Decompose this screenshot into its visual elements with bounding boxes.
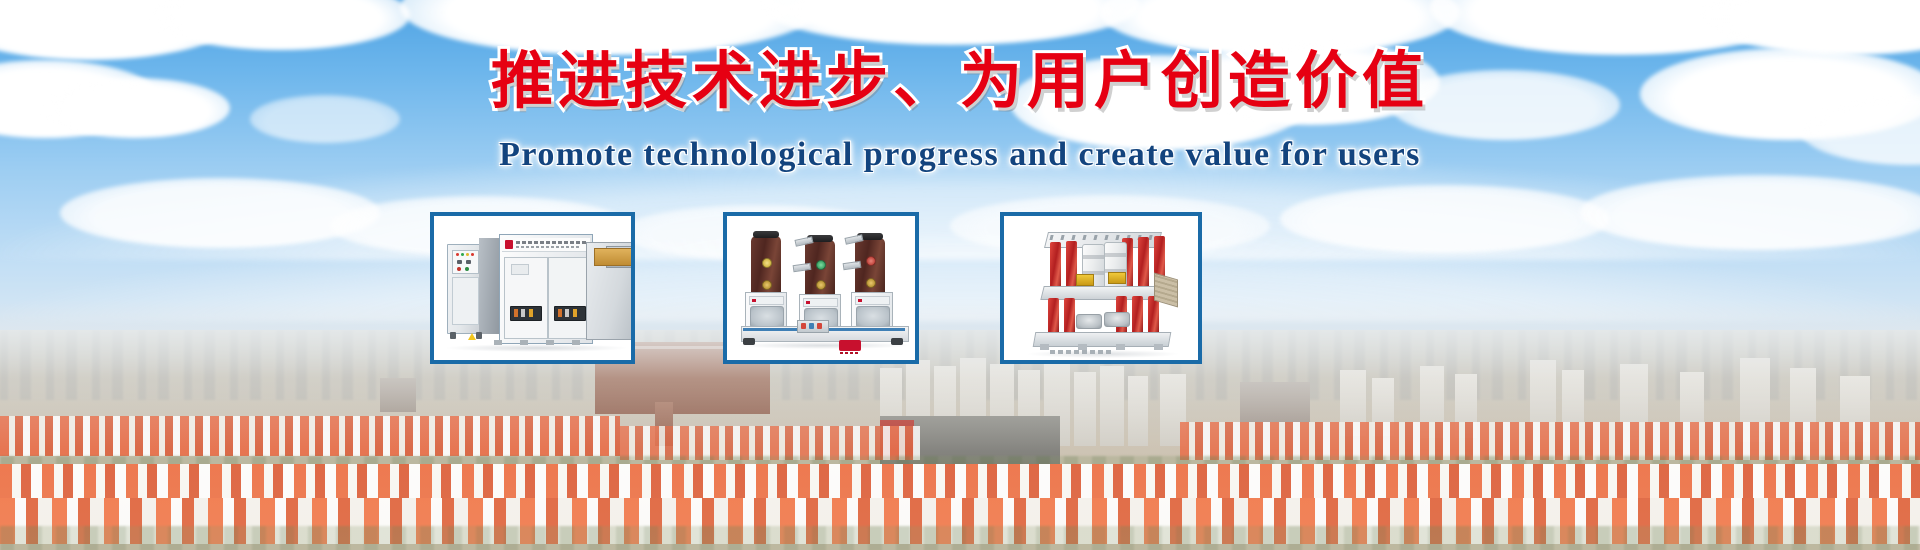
- base-nameplate: [749, 296, 784, 305]
- cubicle-door: [452, 277, 479, 325]
- copper-busbar: [594, 248, 635, 266]
- pole-marker: [866, 278, 876, 288]
- insulator-column: [1132, 296, 1143, 334]
- insulator-column: [1064, 298, 1075, 334]
- product-panel-insulator-assembly[interactable]: [1000, 212, 1202, 364]
- mechanism-window: [856, 306, 890, 328]
- product-shadow: [739, 342, 909, 349]
- cabinet-base-feet: [494, 340, 594, 345]
- main-cabinet: [499, 234, 593, 344]
- base-nameplate: [803, 298, 838, 307]
- pole-cap: [753, 231, 779, 238]
- insulator-column: [1050, 242, 1061, 292]
- nameplate-subtext: [516, 246, 580, 248]
- switch-knob: [457, 260, 462, 264]
- terminal-bracket: [1076, 274, 1094, 286]
- indicator-led: [461, 253, 464, 256]
- coil-assembly: [1104, 312, 1130, 327]
- base-label-text: [1050, 350, 1114, 354]
- frame-foot: [743, 338, 755, 345]
- vent-window: [510, 306, 542, 321]
- control-cubicle: [447, 244, 483, 334]
- product-panel-switchgear-cabinet[interactable]: [430, 212, 635, 364]
- brand-logo-icon: [505, 240, 513, 249]
- cabinet-door-right: [548, 257, 590, 339]
- contactor-base-unit: [851, 292, 893, 330]
- caster-wheel: [476, 332, 482, 339]
- indicator-led: [466, 253, 469, 256]
- indicator-led: [456, 253, 459, 256]
- product-image-switchgear-cabinet: [434, 216, 631, 360]
- pole-marker: [866, 256, 876, 266]
- subtitle-english: Promote technological progress and creat…: [0, 136, 1920, 174]
- pole-marker: [816, 280, 826, 290]
- terminal-bracket: [1108, 272, 1126, 284]
- brand-logo-icon: [839, 340, 861, 356]
- warning-triangle-icon: [468, 333, 476, 340]
- control-face: [452, 250, 479, 274]
- pole-marker: [816, 260, 826, 270]
- coil-assembly: [1076, 314, 1102, 329]
- push-button: [457, 267, 461, 271]
- frame-foot: [891, 338, 903, 345]
- product-shadow: [444, 344, 629, 352]
- nameplate-band: [502, 238, 590, 252]
- capacitor-cylinder: [1104, 242, 1127, 292]
- pole-marker: [762, 280, 772, 290]
- product-panel-vacuum-contactor[interactable]: [723, 212, 919, 364]
- mechanism-window: [750, 306, 784, 328]
- nameplate-text: [516, 241, 588, 244]
- cloud-shape: [1700, 0, 1920, 55]
- pole-marker: [762, 258, 772, 268]
- cloud-shape: [760, 0, 1140, 45]
- mid-plate: [1040, 286, 1163, 300]
- product-image-vacuum-contactor: [727, 216, 915, 360]
- insulator-column: [1048, 298, 1059, 334]
- insulator-column: [1138, 237, 1149, 289]
- switch-knob: [466, 260, 471, 264]
- caster-wheel: [450, 332, 456, 339]
- indicator-led: [471, 253, 474, 256]
- product-panel-group: [0, 212, 1920, 368]
- vent-window: [554, 306, 586, 321]
- headline-chinese: 推进技术进步、为用户创造价值: [0, 48, 1920, 113]
- push-button: [465, 267, 469, 271]
- terminal-block: [797, 320, 829, 333]
- cabinet-door-left: [504, 257, 548, 339]
- contactor-base-unit: [745, 292, 787, 330]
- promo-banner: 推进技术进步、为用户创造价值 Promote technological pro…: [0, 0, 1920, 550]
- door-label: [511, 264, 529, 275]
- cabinet-side-panel: [479, 238, 501, 334]
- base-nameplate: [855, 296, 890, 305]
- product-image-insulator-assembly: [1004, 216, 1198, 360]
